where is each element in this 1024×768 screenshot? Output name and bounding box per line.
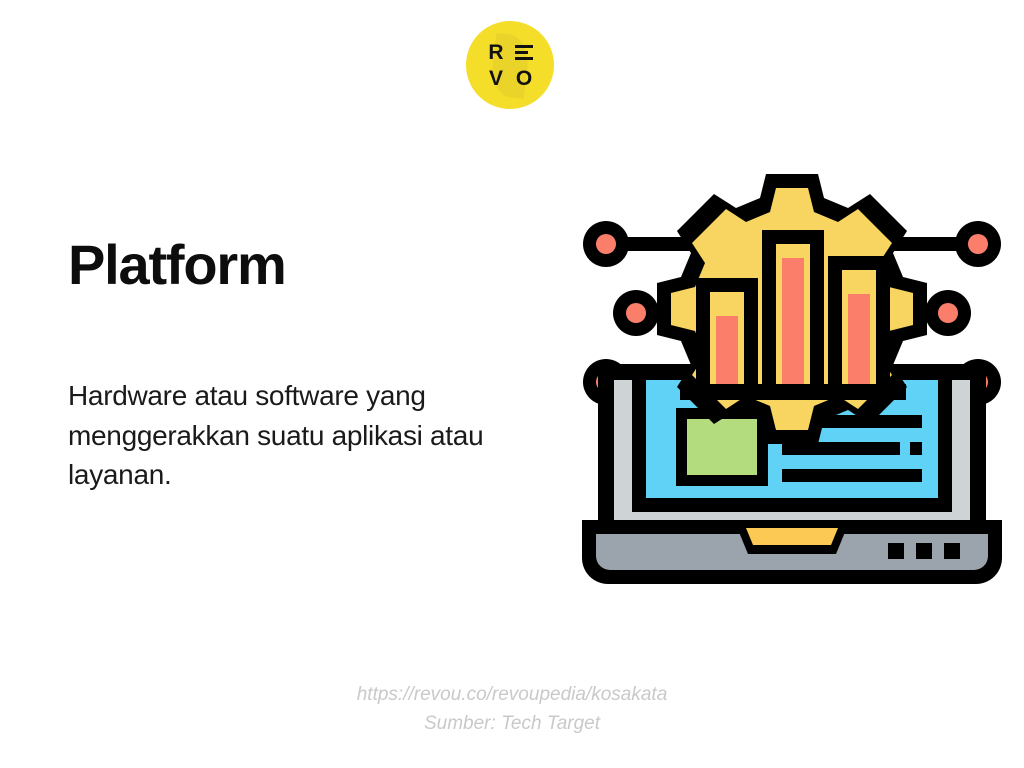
- logo-e-bars-icon: [515, 45, 533, 60]
- logo-letter-o: O: [516, 68, 532, 89]
- text-column: Platform Hardware atau software yang men…: [68, 236, 498, 495]
- footer-url[interactable]: https://revou.co/revoupedia/kosakata: [0, 680, 1024, 709]
- platform-gear-laptop-illustration: [576, 168, 1008, 600]
- laptop-indicator-dots: [888, 543, 960, 559]
- revou-logo-icon[interactable]: R V O: [466, 21, 554, 109]
- logo-letter-grid: R V O: [466, 21, 554, 109]
- footer-source: Sumber: Tech Target: [0, 709, 1024, 738]
- logo-letter-r: R: [488, 42, 503, 63]
- gear-icon: [657, 174, 927, 444]
- footer: https://revou.co/revoupedia/kosakata Sum…: [0, 680, 1024, 739]
- definition-text: Hardware atau software yang menggerakkan…: [68, 295, 498, 495]
- page-title: Platform: [68, 236, 498, 295]
- screen-thumbnail: [676, 408, 768, 486]
- logo-letter-v: V: [489, 68, 503, 89]
